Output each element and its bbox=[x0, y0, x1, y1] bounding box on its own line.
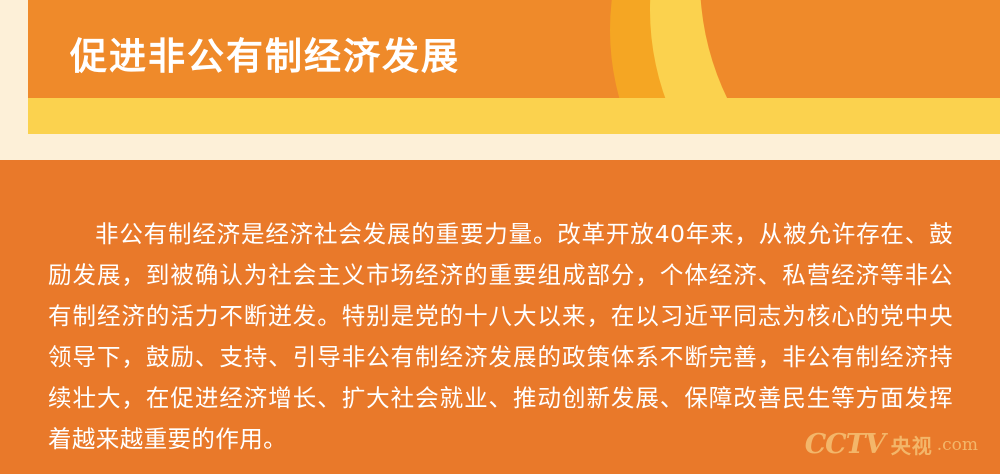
article-body-area: 非公有制经济是经济社会发展的重要力量。改革开放40年来，从被允许存在、鼓励发展，… bbox=[0, 160, 1000, 474]
header-banner: 促进非公有制经济发展 bbox=[0, 0, 1000, 160]
page-title: 促进非公有制经济发展 bbox=[70, 26, 460, 80]
logo-brand-cn-text: 央视 bbox=[891, 430, 933, 459]
cctv-logo: CCTV 央视 .com bbox=[805, 429, 978, 460]
infographic-page: 促进非公有制经济发展 非公有制经济是经济社会发展的重要力量。改革开放40年来，从… bbox=[0, 0, 1000, 474]
banner-cream-strip bbox=[0, 134, 1000, 160]
article-paragraph: 非公有制经济是经济社会发展的重要力量。改革开放40年来，从被允许存在、鼓励发展，… bbox=[48, 214, 953, 460]
logo-brand-text: CCTV bbox=[805, 429, 885, 460]
logo-suffix-text: .com bbox=[937, 435, 978, 455]
banner-yellow-strip bbox=[0, 98, 1000, 134]
banner-left-accent-bar bbox=[0, 0, 28, 160]
